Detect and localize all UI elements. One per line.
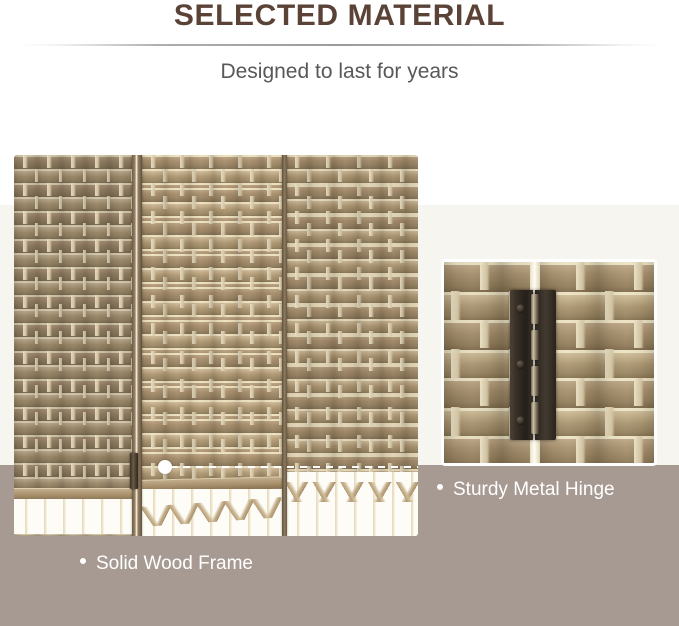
- page-title: SELECTED MATERIAL: [0, 0, 679, 35]
- callout-marker-dot: [158, 460, 172, 474]
- hinge-knuckle: [531, 330, 539, 360]
- caption-hinge-label: Sturdy Metal Hinge: [453, 479, 615, 500]
- product-feature-graphic: SELECTED MATERIAL Designed to last for y…: [0, 0, 679, 626]
- hinge-knuckle: [531, 294, 539, 324]
- caption-sturdy-metal-hinge: Sturdy Metal Hinge: [437, 478, 615, 502]
- divider-panel-left: [14, 155, 132, 536]
- hinge-knuckle: [531, 402, 539, 434]
- weave-shading: [540, 262, 654, 463]
- bullet-icon: [437, 484, 443, 490]
- caption-solid-wood-frame: Solid Wood Frame: [80, 552, 253, 576]
- hinge-screw-icon: [516, 360, 525, 369]
- divider-panel-right: [286, 155, 418, 536]
- metal-hinge-icon: [510, 290, 556, 440]
- panel-middle-bottom-detail: [142, 472, 282, 536]
- divider-panel-middle: [142, 155, 282, 536]
- inset-panel-right: [540, 262, 654, 463]
- header-divider: [18, 44, 661, 46]
- panel-right-bottom-detail: [286, 472, 418, 536]
- page-subtitle: Designed to last for years: [0, 58, 679, 86]
- hinge-screw-icon: [516, 304, 525, 313]
- hinge-knuckle: [531, 366, 539, 396]
- wood-frame-stile-right: [282, 155, 287, 536]
- main-product-photo: [14, 155, 418, 536]
- hinge-detail-inset-photo: [441, 259, 657, 466]
- bullet-icon: [80, 558, 86, 564]
- callout-dashed-line: [170, 466, 418, 468]
- caption-frame-label: Solid Wood Frame: [96, 553, 253, 574]
- vertical-slats: [14, 499, 132, 534]
- lattice-crossbar-detail: [286, 482, 418, 502]
- panel-left-bottom-detail: [14, 472, 132, 536]
- weave-texture: [540, 262, 654, 463]
- hinge-icon: [130, 453, 138, 489]
- hinge-screw-icon: [516, 416, 525, 425]
